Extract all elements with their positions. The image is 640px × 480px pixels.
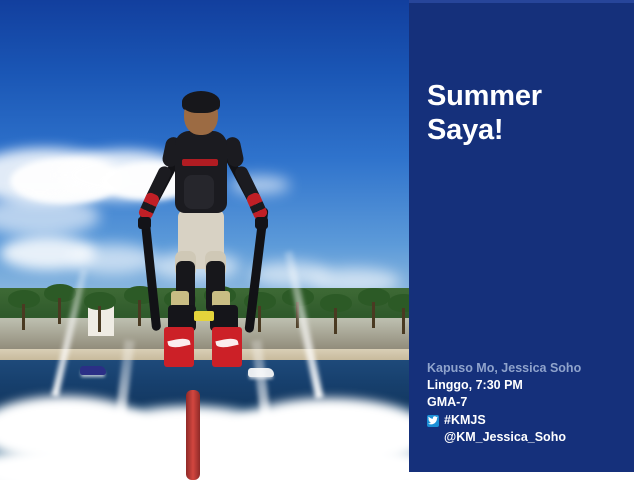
- panel-top-accent: [409, 0, 634, 3]
- twitter-bird-icon: [427, 415, 439, 427]
- hashtag-row: #KMJS: [427, 412, 627, 429]
- palm-tree: [382, 294, 409, 334]
- jetski: [80, 366, 106, 375]
- promo-photo: [0, 0, 409, 480]
- info-panel: Summer Saya! Kapuso Mo, Jessica Soho Lin…: [409, 0, 634, 472]
- palm-tree: [78, 292, 122, 332]
- channel-text: GMA-7: [427, 394, 627, 411]
- yellow-label: [194, 311, 214, 321]
- rider-vest-stripe: [182, 159, 218, 166]
- schedule-text: Linggo, 7:30 PM: [427, 377, 627, 394]
- main-water-hose: [186, 390, 200, 480]
- hand-grip: [138, 217, 151, 229]
- hand-grip: [255, 217, 268, 229]
- show-name: Kapuso Mo, Jessica Soho: [427, 360, 627, 377]
- rider-hair: [182, 91, 220, 113]
- twitter-handle: @KM_Jessica_Soho: [427, 429, 627, 446]
- hashtag-text: #KMJS: [444, 412, 486, 429]
- title-line-1: Summer: [427, 80, 617, 114]
- title-line-2: Saya!: [427, 114, 617, 148]
- red-jet-boot: [164, 327, 194, 367]
- flyboard-rider: [140, 95, 270, 395]
- credits-block: Kapuso Mo, Jessica Soho Linggo, 7:30 PM …: [427, 360, 627, 446]
- sea-foam: [0, 440, 409, 480]
- red-jet-boot: [212, 327, 242, 367]
- rider-vest-panel: [184, 175, 214, 209]
- slide-canvas: Summer Saya! Kapuso Mo, Jessica Soho Lin…: [0, 0, 640, 480]
- page-title: Summer Saya!: [427, 80, 617, 148]
